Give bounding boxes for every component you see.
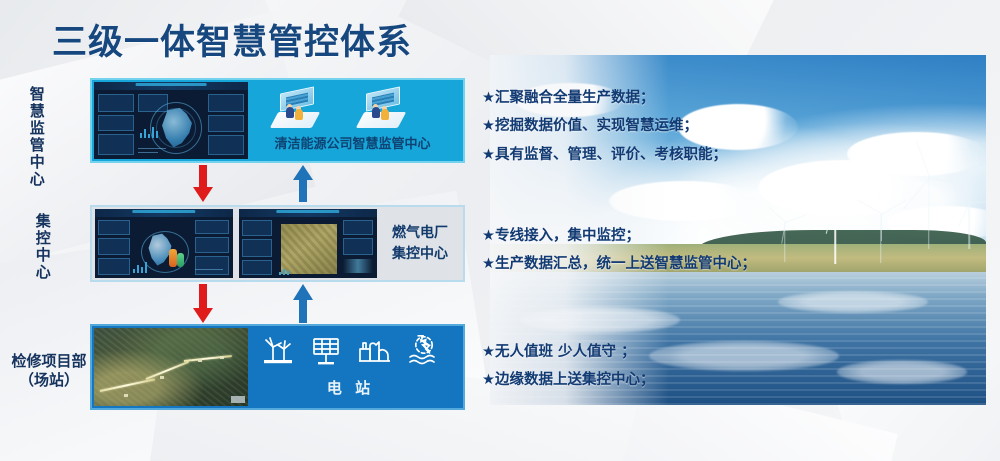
power-plant-icon [357,334,393,366]
cloud-reflection [778,291,928,313]
wind-turbine [961,195,977,249]
row-label-control-center: 集控中心 [34,210,50,284]
monitoring-dashboard-screenshot [94,82,248,159]
page-title: 三级一体智慧管控体系 [52,14,412,65]
site-marker [198,359,202,362]
cloud-reflection [649,341,839,371]
bullet-item: ★生产数据汇总，统一上送智慧监管中心； [482,250,756,278]
bullets-station: ★无人值班 少人值守 ； ★边缘数据上送集控中心； [482,338,655,395]
panel-caption-control-center: 燃气电厂 集控中心 [377,223,463,264]
row-label-line1: 检修项目部 [6,352,92,371]
down-arrow-monitoring-to-control [192,165,214,203]
site-marker [220,356,224,359]
energy-type-icons [248,334,453,366]
bullet-item: ★具有监督、管理、评价、考核职能； [482,141,727,169]
hydro-power-icon [407,334,441,366]
up-arrow-control-to-monitoring [292,165,314,203]
bullet-item: ★专线接入，集中监控； [482,222,756,250]
bullet-item: ★无人值班 少人值守 ； [482,338,655,366]
operator-workstation-illustration [272,90,318,134]
bullets-monitoring-center: ★汇聚融合全量生产数据； ★挖掘数据价值、实现智慧运维； ★具有监督、管理、评价… [482,84,727,169]
wind-turbine [778,216,792,262]
control-center-dashboard-screenshot-2 [239,209,377,278]
wind-turbine [917,167,941,249]
row-label-monitoring-center: 智慧监管中心 [28,82,44,192]
bullet-item: ★边缘数据上送集控中心； [482,366,655,394]
control-center-dashboard-screenshot-1 [95,209,233,278]
panel-control-center: 燃气电厂 集控中心 [90,205,465,282]
site-marker [124,394,128,397]
site-marker [160,376,164,379]
panel-monitoring-center: 清洁能源公司智慧监管中心 [90,78,465,163]
wind-turbine-icon [261,334,295,366]
row-label-line2: （场站） [6,371,92,390]
wind-turbine [822,188,848,264]
down-arrow-control-to-station [192,284,214,324]
row-label-maintenance-project: 检修项目部 （场站） [6,352,92,390]
map-watermark [231,396,245,403]
bullets-control-center: ★专线接入，集中监控； ★生产数据汇总，统一上送智慧监管中心； [482,222,756,279]
station-satellite-photo [94,328,248,406]
wind-turbine [872,206,890,264]
panel-caption-line2: 集控中心 [377,244,463,264]
solar-panel-icon [309,334,343,366]
operator-workstation-illustration [358,90,404,134]
bullet-item: ★汇聚融合全量生产数据； [482,84,727,112]
slide-canvas: 三级一体智慧管控体系 智慧监管中心 集控中心 检修项目部 （场站） [0,0,1000,461]
panel-caption-monitoring-center: 清洁能源公司智慧监管中心 [248,136,457,155]
up-arrow-station-to-control [292,284,314,324]
panel-caption-line1: 燃气电厂 [377,223,463,243]
panel-caption-station: 电 站 [248,378,453,400]
panel-station: 电 站 [90,324,465,410]
bullet-item: ★挖掘数据价值、实现智慧运维； [482,112,727,140]
cloud-reflection [837,360,967,384]
